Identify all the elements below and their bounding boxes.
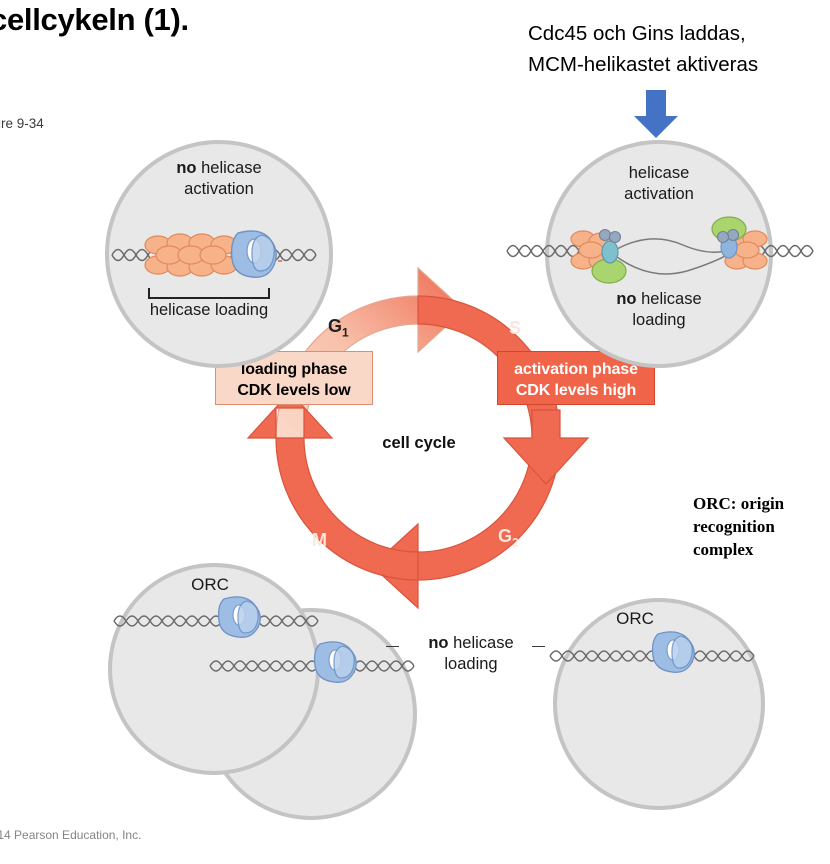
side-note-line1: ar xyxy=(0,494,108,526)
label-line2: activation xyxy=(105,179,333,200)
side-note-line2: .. xyxy=(0,526,108,558)
label-line2: activation xyxy=(545,184,773,205)
loading-phase-line2: CDK levels low xyxy=(216,380,372,401)
label-line1: helicase xyxy=(545,163,773,184)
helicase-activation-label: helicase activation xyxy=(545,163,773,205)
phase-label-m: M xyxy=(312,530,327,551)
label-bold-no: no xyxy=(176,159,196,177)
label-line2: loading xyxy=(396,654,546,675)
side-note: ar .. xyxy=(0,494,108,558)
g2-dna-orc-illustration xyxy=(548,630,763,680)
annotation-line1: Cdc45 och Gins laddas, xyxy=(528,18,828,49)
annotation-line2: MCM-helikastet aktiveras xyxy=(528,49,828,80)
label-rest: helicase xyxy=(449,634,514,652)
cycle-arrowhead-down xyxy=(504,410,588,484)
orc-label-m: ORC xyxy=(175,574,245,595)
activation-phase-line2: CDK levels high xyxy=(498,380,654,401)
page-title: cellcykeln (1). xyxy=(0,2,420,38)
m-dna-orc-illustration-1 xyxy=(112,595,327,645)
m-dna-orc-illustration-2 xyxy=(208,640,423,690)
label-bold-no: no xyxy=(428,634,448,652)
phase-label-g1: G1 xyxy=(328,316,349,340)
orc-legend-line1: ORC: origin xyxy=(693,492,823,515)
figure-caption: gure 9-34 xyxy=(0,116,44,131)
slide-canvas: cellcykeln (1). gure 9-34 ar .. 2014 Pea… xyxy=(0,0,830,864)
phase-label-g2: G2 xyxy=(498,526,519,550)
no-helicase-loading-label-bottom: no helicase loading xyxy=(396,633,546,675)
phase-label-s: S xyxy=(509,318,521,339)
copyright-notice: 2014 Pearson Education, Inc. xyxy=(0,828,141,842)
helicase-loading-label: helicase loading xyxy=(124,300,294,321)
cell-cycle-label: cell cycle xyxy=(356,434,482,453)
helicase-loading-bracket xyxy=(148,288,270,299)
orc-label-g2: ORC xyxy=(600,608,670,629)
cycle-arc-m xyxy=(276,438,418,580)
g1-dna-helicase-illustration xyxy=(110,215,330,295)
label-rest: helicase xyxy=(197,159,262,177)
s-phase-replisome-illustration xyxy=(505,205,815,305)
no-helicase-activation-label: no helicase activation xyxy=(105,158,333,200)
annotation-text: Cdc45 och Gins laddas, MCM-helikastet ak… xyxy=(528,18,828,80)
orc-legend: ORC: origin recognition complex xyxy=(693,492,823,561)
orc-legend-line3: complex xyxy=(693,538,823,561)
down-arrow-icon xyxy=(630,88,682,140)
orc-legend-line2: recognition xyxy=(693,515,823,538)
label-line2: loading xyxy=(545,310,773,331)
